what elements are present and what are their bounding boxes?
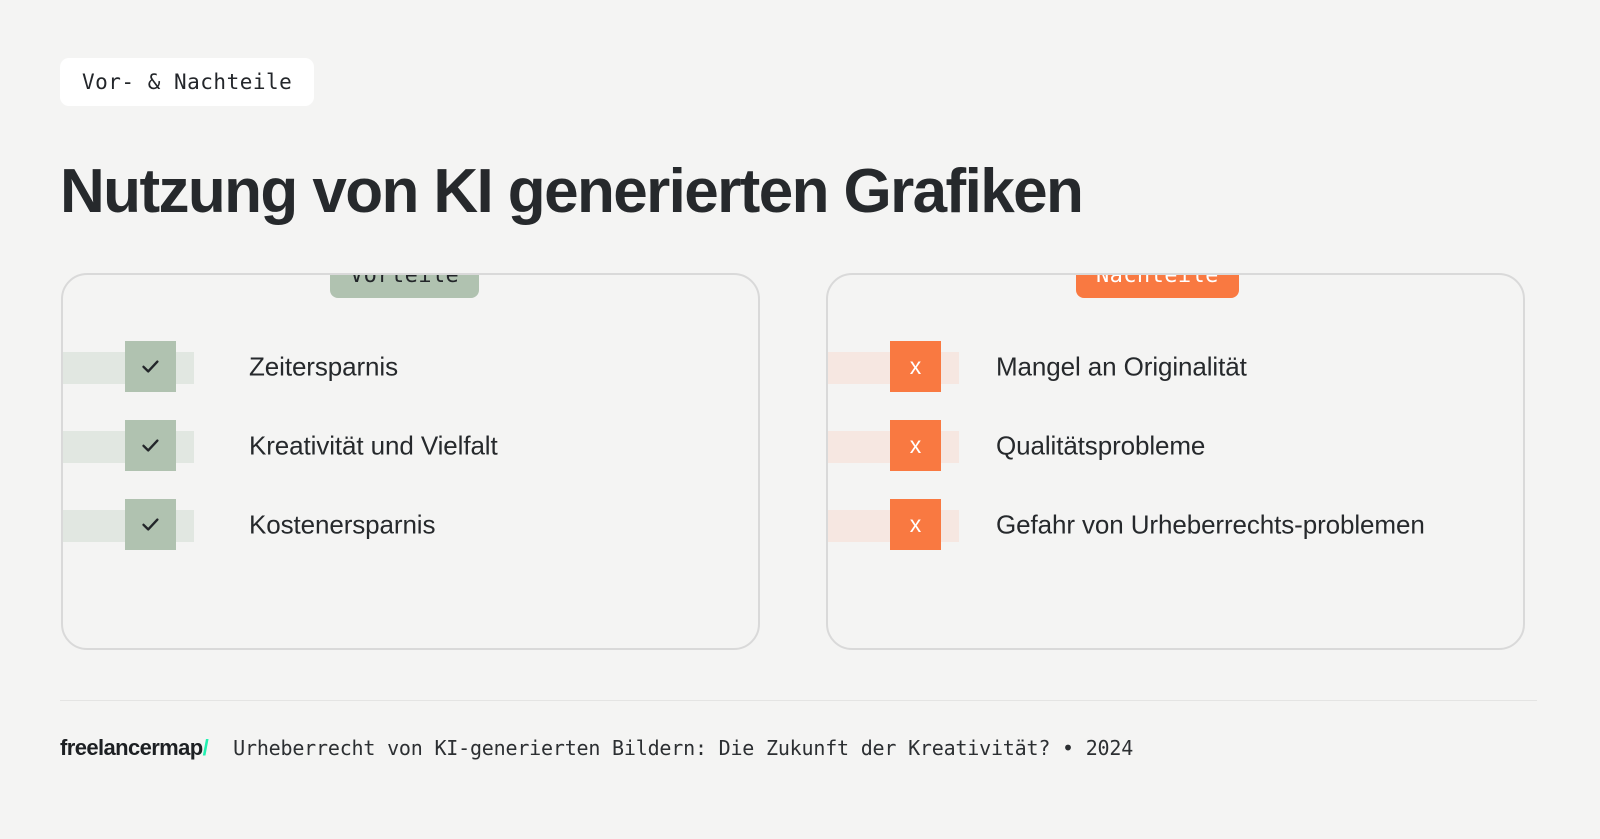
check-mark-icon: [125, 341, 176, 392]
check-mark-icon: [125, 420, 176, 471]
x-mark-glyph: x: [910, 355, 922, 378]
list-item-label: Gefahr von Urheberrechts-problemen: [996, 508, 1425, 541]
cons-item-list: x Mangel an Originalität x Qualitätsprob…: [828, 275, 1523, 648]
freelancermap-logo: freelancermap/: [60, 735, 208, 761]
logo-slash-icon: /: [203, 735, 209, 760]
list-item: x Qualitätsprobleme: [828, 418, 1523, 474]
comparison-cards: Vorteile Zeitersparnis Krea: [61, 273, 1537, 652]
pros-badge-label: Vorteile: [350, 273, 459, 288]
list-item-label: Zeitersparnis: [249, 350, 398, 383]
cons-badge-label: Nachteile: [1096, 273, 1219, 288]
footer-divider: [60, 700, 1537, 701]
footer-caption: Urheberrecht von KI-generierten Bildern:…: [233, 736, 1133, 760]
pros-badge: Vorteile: [330, 273, 479, 298]
list-item: x Gefahr von Urheberrechts-problemen: [828, 497, 1523, 553]
list-item-label: Kreativität und Vielfalt: [249, 429, 498, 462]
list-item: x Mangel an Originalität: [828, 339, 1523, 395]
list-item-label: Kostenersparnis: [249, 508, 435, 541]
check-mark-icon: [125, 499, 176, 550]
list-item-label: Mangel an Originalität: [996, 350, 1247, 383]
page-title: Nutzung von KI generierten Grafiken: [60, 156, 1082, 227]
x-mark-glyph: x: [910, 434, 922, 457]
cons-badge: Nachteile: [1076, 273, 1239, 298]
footer: freelancermap/ Urheberrecht von KI-gener…: [60, 735, 1133, 761]
list-item-label: Qualitätsprobleme: [996, 429, 1205, 462]
eyebrow-badge: Vor- & Nachteile: [60, 58, 314, 106]
cons-card: Nachteile x Mangel an Originalität x Qua…: [826, 273, 1525, 650]
pros-card: Vorteile Zeitersparnis Krea: [61, 273, 760, 650]
list-item: Kreativität und Vielfalt: [63, 418, 758, 474]
x-mark-icon: x: [890, 341, 941, 392]
x-mark-glyph: x: [910, 513, 922, 536]
eyebrow-label: Vor- & Nachteile: [82, 70, 292, 94]
logo-wordmark: freelancermap: [60, 735, 203, 760]
x-mark-icon: x: [890, 420, 941, 471]
infographic-page: { "header": { "eyebrow": "Vor- & Nachtei…: [0, 0, 1600, 839]
x-mark-icon: x: [890, 499, 941, 550]
list-item: Kostenersparnis: [63, 497, 758, 553]
list-item: Zeitersparnis: [63, 339, 758, 395]
pros-item-list: Zeitersparnis Kreativität und Vielfalt: [63, 275, 758, 648]
